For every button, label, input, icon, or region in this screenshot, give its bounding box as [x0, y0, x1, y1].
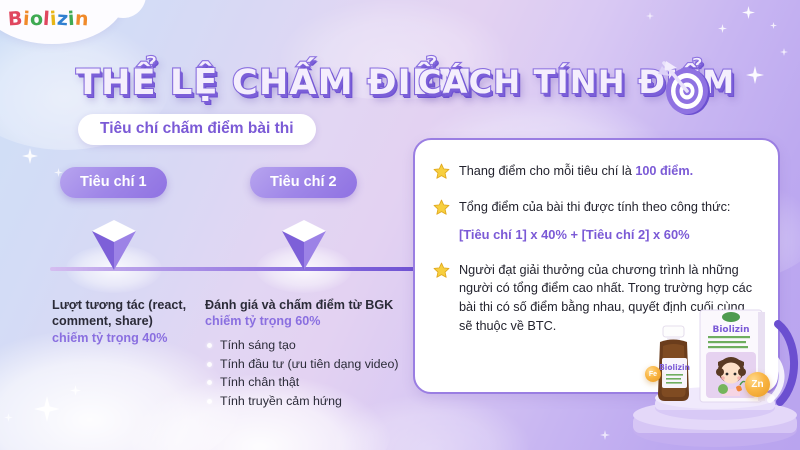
sparkle-icon [746, 66, 764, 84]
list-item: Tính đầu tư (ưu tiên dạng video) [205, 355, 405, 374]
criteria-weight: chiếm tỷ trọng 60% [205, 313, 405, 329]
criteria-weight: chiếm tỷ trọng 40% [52, 330, 192, 346]
sparkle-icon [4, 413, 13, 422]
brand-logo[interactable]: Biolizin [8, 8, 89, 30]
product-image: Biolizin Biolizin [610, 290, 800, 450]
logo-letter: B [7, 8, 23, 31]
rule-item-2: Tổng điểm của bài thi được tính theo côn… [433, 198, 754, 244]
rule-text-2: Tổng điểm của bài thi được tính theo côn… [459, 198, 730, 244]
sparkle-icon [718, 24, 727, 33]
scoring-formula: [Tiêu chí 1] x 40% + [Tiêu chí 2] x 60% [459, 225, 730, 244]
page-title-left: THỂ LỆ CHẤM ĐIỂM [76, 63, 473, 103]
star-icon [433, 199, 450, 216]
badge-fe: Fe [645, 366, 661, 382]
criteria-heading: Lượt tương tác (react, comment, share) [52, 297, 192, 330]
rule-1-prefix: Thang điểm cho mỗi tiêu chí là [459, 164, 635, 178]
svg-text:Biolizin: Biolizin [712, 325, 749, 335]
cloud-shape [0, 330, 240, 450]
sparkle-icon [646, 12, 654, 20]
list-item: Tính truyền cảm hứng [205, 392, 405, 411]
criteria-pill-1[interactable]: Tiêu chí 1 [60, 167, 167, 198]
sparkle-icon [34, 396, 60, 422]
criteria-heading: Đánh giá và chấm điểm từ BGK [205, 297, 405, 313]
rule-text-1: Thang điểm cho mỗi tiêu chí là 100 điểm. [459, 162, 693, 181]
rule-1-highlight: 100 điểm. [635, 164, 693, 178]
star-icon [433, 262, 450, 279]
sparkle-icon [22, 148, 38, 164]
criteria-block-1: Lượt tương tác (react, comment, share) c… [52, 297, 192, 346]
logo-letter: n [74, 8, 89, 31]
sparkle-icon [770, 22, 777, 29]
svg-text:Biolizin: Biolizin [659, 363, 690, 372]
sparkle-icon [780, 48, 788, 56]
list-item: Tính chân thật [205, 373, 405, 392]
diamond-marker-1 [90, 218, 138, 272]
rule-2-line: Tổng điểm của bài thi được tính theo côn… [459, 198, 730, 217]
list-item: Tính sáng tạo [205, 336, 405, 355]
badge-zn: Zn [745, 372, 770, 397]
criteria-block-2: Đánh giá và chấm điểm từ BGK chiếm tỷ tr… [205, 297, 405, 411]
star-icon [433, 163, 450, 180]
subtitle-pill: Tiêu chí chấm điểm bài thi [78, 114, 316, 145]
dartboard-icon [656, 58, 718, 120]
criteria-sublist: Tính sáng tạo Tính đầu tư (ưu tiên dạng … [205, 336, 405, 411]
diamond-marker-2 [280, 218, 328, 272]
sparkle-icon [70, 385, 81, 396]
criteria-pill-2[interactable]: Tiêu chí 2 [250, 167, 357, 198]
sparkle-icon [600, 430, 610, 440]
sparkle-icon [742, 6, 755, 19]
rule-item-1: Thang điểm cho mỗi tiêu chí là 100 điểm. [433, 162, 754, 181]
